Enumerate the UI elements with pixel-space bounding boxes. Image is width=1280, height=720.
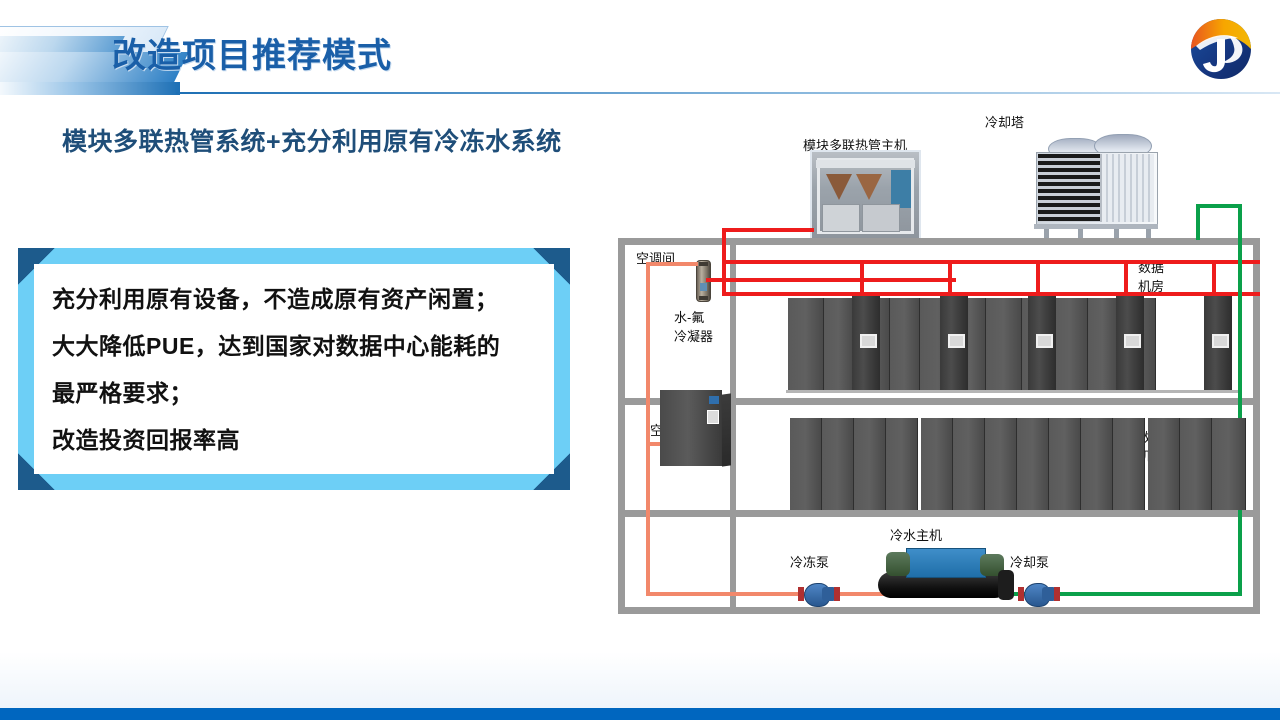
rack xyxy=(1180,418,1212,510)
refrigerant-supply-header xyxy=(726,260,1260,264)
module-heatpipe-unit-photo xyxy=(810,150,921,244)
chiller-compressor xyxy=(906,548,986,578)
building-floor xyxy=(618,607,1260,614)
label-cooling-tower: 冷却塔 xyxy=(985,112,1024,131)
condenser-water-tower-run xyxy=(1196,204,1242,208)
callout-line-3: 最严格要求； xyxy=(52,370,552,417)
plant-room-partition xyxy=(730,517,736,614)
rack xyxy=(1148,418,1180,510)
condenser-cap-top xyxy=(699,262,708,266)
rack xyxy=(1052,298,1088,390)
rack xyxy=(886,418,918,510)
rack-row-base-floor1 xyxy=(786,390,1238,393)
unit-door-left xyxy=(822,204,860,232)
pump-flange-right xyxy=(834,587,840,601)
tower-casing-fins xyxy=(1102,154,1154,222)
floor-divider-2 xyxy=(618,510,1260,517)
refrigerant-pipe-condenser-branch xyxy=(706,278,956,282)
callout-line-2: 大大降低PUE，达到国家对数据中心能耗的 xyxy=(52,323,552,370)
header-rule xyxy=(176,92,1280,94)
cooler-display xyxy=(1212,334,1229,348)
tower-louvers xyxy=(1038,154,1102,222)
tower-base xyxy=(1034,224,1158,229)
in-row-cooler xyxy=(940,296,968,392)
cooling-tower xyxy=(1020,130,1170,238)
building-roof xyxy=(618,238,1260,245)
in-row-cooler xyxy=(1204,296,1232,392)
rack xyxy=(1081,418,1113,510)
condenser-label-line2: 冷凝器 xyxy=(674,327,713,346)
rack xyxy=(854,418,886,510)
rack xyxy=(790,418,822,510)
condenser-port xyxy=(700,283,707,291)
company-logo xyxy=(1184,12,1258,86)
rack-row-floor2 xyxy=(790,418,1246,510)
unit-blue-panel xyxy=(891,170,911,208)
callout-text-block: 充分利用原有设备，不造成原有资产闲置； 大大降低PUE，达到国家对数据中心能耗的… xyxy=(52,276,552,464)
chilled-water-riser xyxy=(646,262,650,596)
cooler-display xyxy=(1036,334,1053,348)
header-band xyxy=(0,82,180,95)
crac-display xyxy=(709,396,719,404)
in-row-cooler xyxy=(1116,296,1144,392)
rack xyxy=(822,418,854,510)
crac-controls xyxy=(707,410,719,424)
slide-canvas: 改造项目推荐模式 模块多联热管系统+充分利用原有冷冻 xyxy=(0,0,1280,720)
footer-gradient xyxy=(0,652,1280,708)
label-chilled-water-pump: 冷冻泵 xyxy=(790,552,829,571)
rack xyxy=(788,298,824,390)
crac-side-panel xyxy=(722,393,731,466)
label-water-fluorine-condenser: 水-氟 冷凝器 xyxy=(674,308,713,346)
system-schematic: 模块多联热管主机 冷却塔 xyxy=(600,100,1272,620)
unit-top-rail xyxy=(816,160,915,168)
chilled-water-to-condenser xyxy=(646,262,698,266)
unit-coil-right xyxy=(856,174,882,200)
rack xyxy=(1113,418,1145,510)
building-left-wall xyxy=(618,238,625,614)
cooler-display xyxy=(1124,334,1141,348)
rack xyxy=(953,418,985,510)
unit-coil-left xyxy=(826,174,852,200)
refrigerant-return-header xyxy=(726,292,1260,296)
rack xyxy=(921,418,953,510)
chiller-end-bell xyxy=(998,570,1014,600)
benefits-callout: 充分利用原有设备，不造成原有资产闲置； 大大降低PUE，达到国家对数据中心能耗的… xyxy=(18,248,570,490)
cooler-display xyxy=(948,334,965,348)
callout-line-1: 充分利用原有设备，不造成原有资产闲置； xyxy=(52,276,552,323)
rack xyxy=(1212,418,1246,510)
rack xyxy=(985,418,1017,510)
chilled-water-pump xyxy=(798,583,838,605)
rack xyxy=(824,298,854,390)
rack xyxy=(1049,418,1081,510)
water-cooled-chiller xyxy=(878,542,1018,602)
condenser-label-line1: 水-氟 xyxy=(674,308,713,327)
rack xyxy=(1017,418,1049,510)
rack xyxy=(890,298,920,390)
in-row-cooler xyxy=(852,296,880,392)
pump-flange-right xyxy=(1054,587,1060,601)
rack xyxy=(986,298,1022,390)
section-subtitle: 模块多联热管系统+充分利用原有冷冻水系统 xyxy=(62,122,562,158)
condenser-water-tower-drop xyxy=(1196,204,1200,240)
chiller-motor-left xyxy=(886,552,910,576)
in-row-cooler xyxy=(1028,296,1056,392)
crac-unit-floor2 xyxy=(660,390,722,466)
page-title: 改造项目推荐模式 xyxy=(112,28,392,77)
refrigerant-pipe-top-run xyxy=(722,228,814,232)
cooling-water-pump xyxy=(1018,583,1058,605)
rack xyxy=(1088,298,1118,390)
callout-line-4: 改造投资回报率高 xyxy=(52,417,552,464)
cooler-display xyxy=(860,334,877,348)
condenser-water-riser xyxy=(1238,204,1242,596)
condenser-cap-bottom xyxy=(699,296,708,300)
unit-door-right xyxy=(862,204,900,232)
rack-row-floor1 xyxy=(788,298,1156,390)
footer-bar xyxy=(0,708,1280,720)
